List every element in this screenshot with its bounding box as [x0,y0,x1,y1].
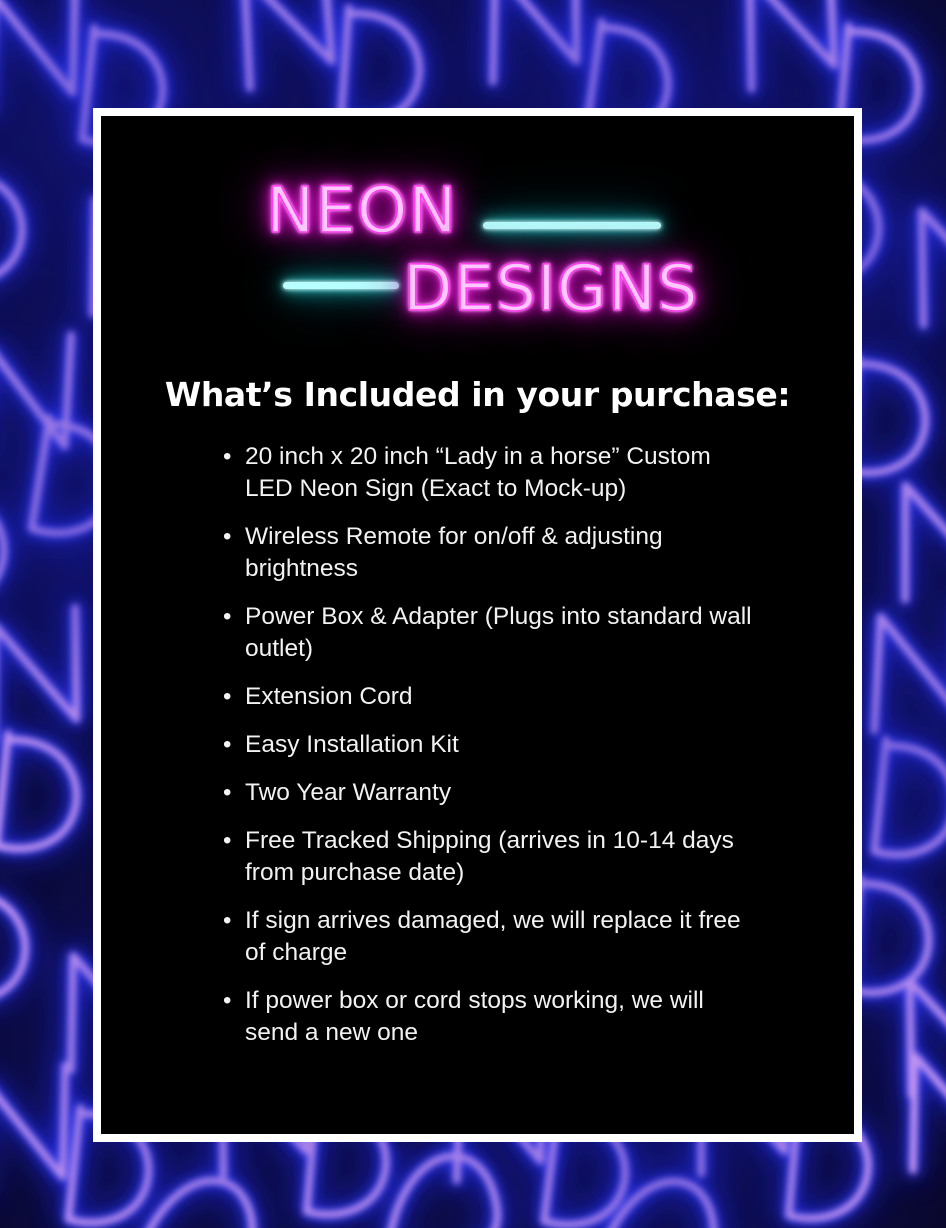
logo-cyan-bar-top [483,222,661,229]
list-item-label: If sign arrives damaged, we will replace… [245,907,741,966]
list-item-label: Two Year Warranty [245,779,451,806]
list-item-label: Free Tracked Shipping (arrives in 10-14 … [245,827,734,886]
bullet-icon: • [223,825,231,857]
card-body: NEON DESIGNS What’s Included in your pur… [101,116,854,1134]
bullet-icon: • [223,777,231,809]
logo-word-neon: NEON [266,174,457,247]
list-item: • If power box or cord stops working, we… [219,985,759,1049]
included-items-list: • 20 inch x 20 inch “Lady in a horse” Cu… [219,441,759,1049]
bullet-icon: • [223,521,231,553]
bullet-icon: • [223,601,231,633]
bullet-icon: • [223,681,231,713]
bullet-icon: • [223,441,231,473]
card-frame: NEON DESIGNS What’s Included in your pur… [93,108,862,1142]
logo-cyan-bar-left [283,282,399,289]
list-item: • Two Year Warranty [219,777,759,809]
bullet-icon: • [223,985,231,1017]
list-item-label: Wireless Remote for on/off & adjusting b… [245,523,663,582]
list-item-label: Extension Cord [245,683,413,710]
list-item: • Power Box & Adapter (Plugs into standa… [219,601,759,665]
bullet-icon: • [223,729,231,761]
list-item-label: Power Box & Adapter (Plugs into standard… [245,603,752,662]
logo-word-designs: DESIGNS [403,252,699,325]
neon-designs-logo: NEON DESIGNS [101,116,854,331]
list-item: • Wireless Remote for on/off & adjusting… [219,521,759,585]
bullet-icon: • [223,905,231,937]
list-item: • Extension Cord [219,681,759,713]
list-item: • If sign arrives damaged, we will repla… [219,905,759,969]
poster-page: NEON DESIGNS What’s Included in your pur… [0,0,946,1228]
list-item-label: Easy Installation Kit [245,731,459,758]
list-item: • Easy Installation Kit [219,729,759,761]
list-item-label: 20 inch x 20 inch “Lady in a horse” Cust… [245,443,711,502]
list-item: • Free Tracked Shipping (arrives in 10-1… [219,825,759,889]
list-item: • 20 inch x 20 inch “Lady in a horse” Cu… [219,441,759,505]
list-item-label: If power box or cord stops working, we w… [245,987,704,1046]
page-title: What’s Included in your purchase: [101,377,854,413]
